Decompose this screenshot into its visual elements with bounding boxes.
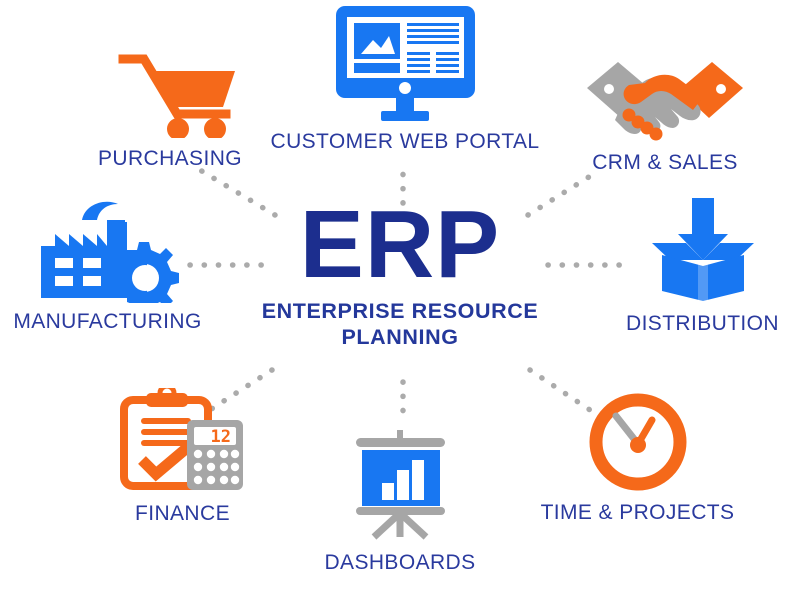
clock-icon <box>530 392 745 497</box>
node-crm-sales-label: CRM & SALES <box>530 151 800 175</box>
erp-subtitle: ENTERPRISE RESOURCE PLANNING <box>250 298 550 350</box>
node-customer-portal[interactable]: CUSTOMER WEB PORTAL <box>255 3 555 154</box>
handshake-icon <box>530 52 800 147</box>
erp-hub: ERP ENTERPRISE RESOURCE PLANNING <box>250 198 550 351</box>
node-distribution-label: DISTRIBUTION <box>605 312 800 336</box>
node-distribution[interactable]: DISTRIBUTION <box>605 198 800 336</box>
node-manufacturing[interactable]: MANUFACTURING <box>0 198 220 334</box>
factory-gear-icon <box>0 198 220 308</box>
erp-diagram: .dot-line { stroke: #ABABAB; stroke-widt… <box>0 0 800 600</box>
erp-subtitle-line2: PLANNING <box>250 324 550 350</box>
node-purchasing[interactable]: PURCHASING <box>55 52 285 171</box>
node-finance[interactable]: 12 FINANCE <box>75 388 290 526</box>
node-purchasing-label: PURCHASING <box>55 147 285 171</box>
node-time-projects-label: TIME & PROJECTS <box>530 501 745 525</box>
calculator-display: 12 <box>210 427 230 447</box>
node-manufacturing-label: MANUFACTURING <box>0 310 220 334</box>
node-crm-sales[interactable]: CRM & SALES <box>530 52 800 175</box>
presentation-chart-icon <box>300 425 500 545</box>
shopping-cart-icon <box>55 52 285 143</box>
erp-title: ERP <box>250 198 550 292</box>
desktop-monitor-icon <box>255 3 555 128</box>
node-dashboards-label: DASHBOARDS <box>300 551 500 575</box>
clipboard-calculator-icon: 12 <box>75 388 290 498</box>
open-box-arrow-icon <box>605 198 800 308</box>
node-time-projects[interactable]: TIME & PROJECTS <box>530 392 745 525</box>
node-dashboards[interactable]: DASHBOARDS <box>300 425 500 575</box>
node-finance-label: FINANCE <box>75 502 290 526</box>
erp-subtitle-line1: ENTERPRISE RESOURCE <box>250 298 550 324</box>
node-customer-portal-label: CUSTOMER WEB PORTAL <box>255 130 555 154</box>
